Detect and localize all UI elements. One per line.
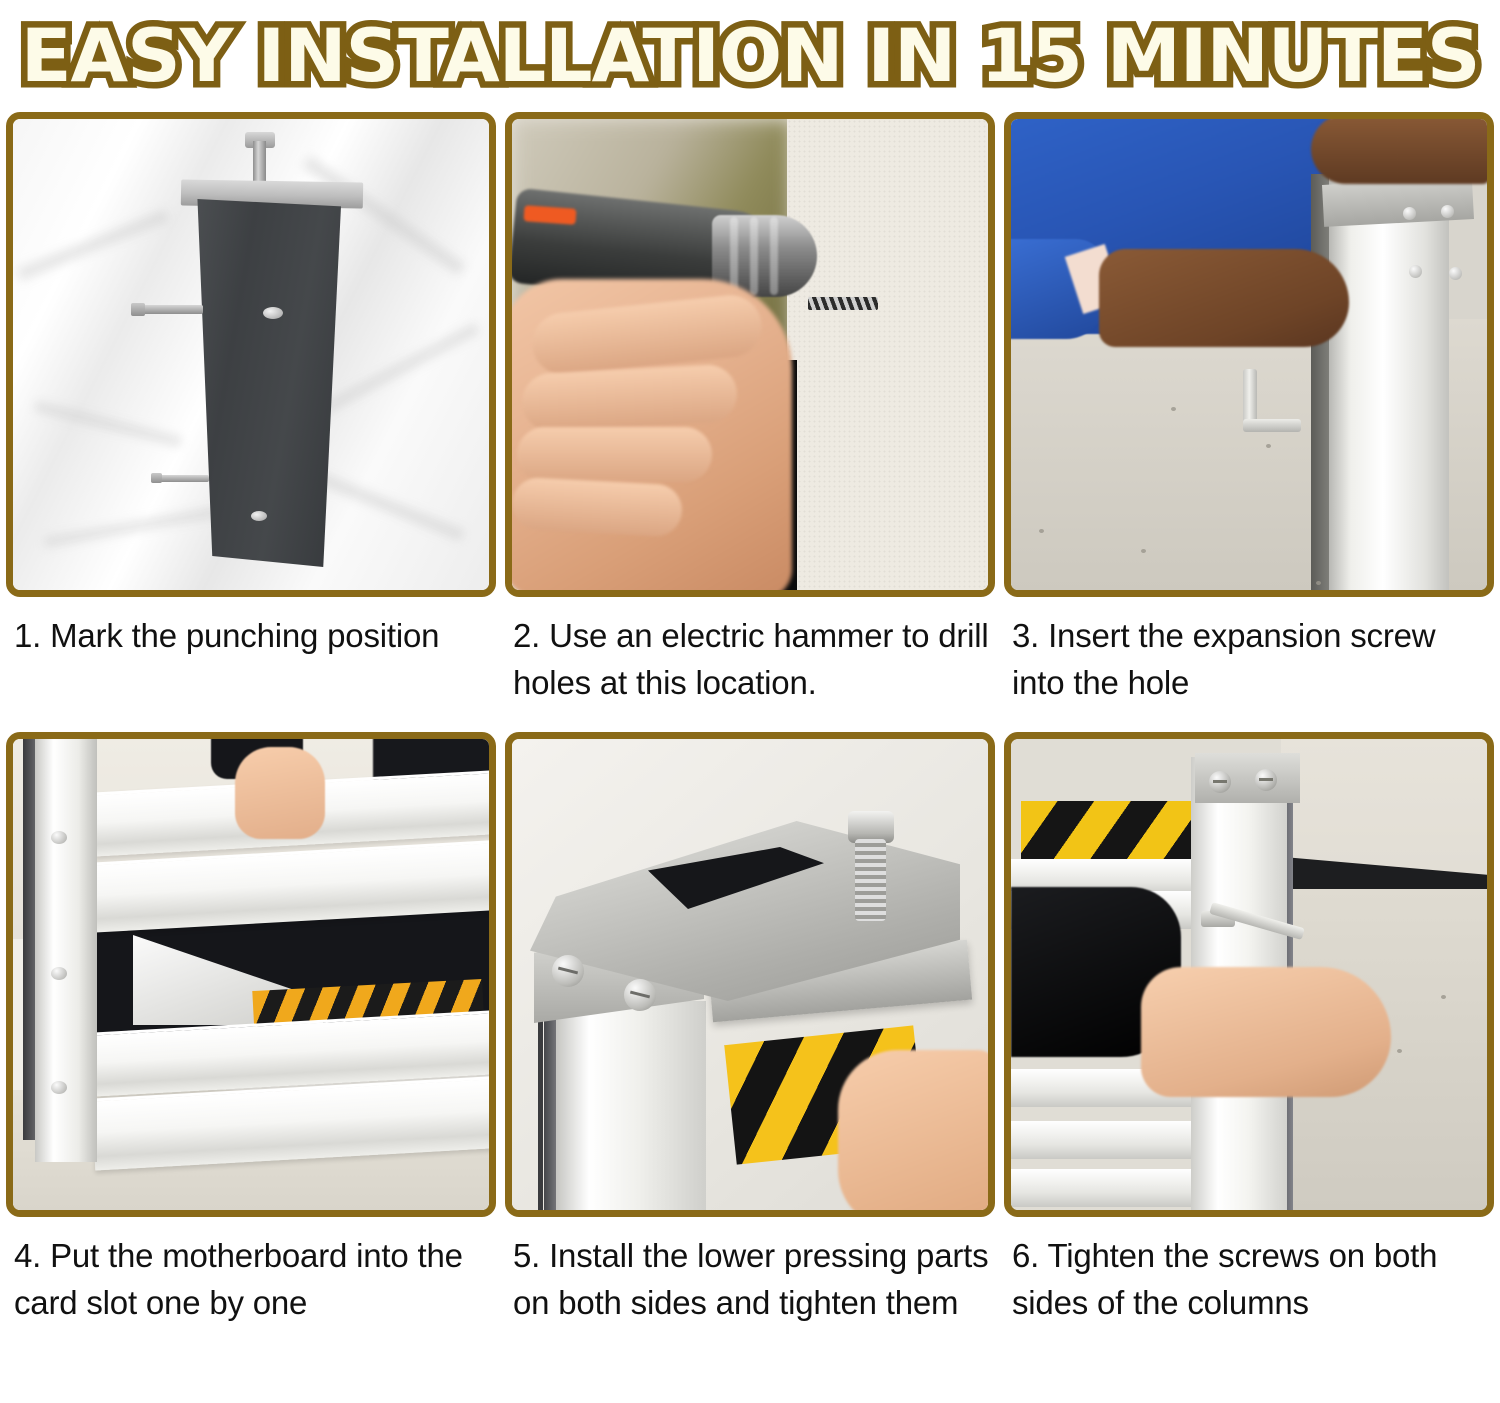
step-4-photo-frame: [6, 732, 496, 1217]
floor-speck: [1141, 549, 1146, 553]
step-card-5: 5. Install the lower pressing parts on b…: [505, 732, 995, 1367]
finger: [512, 477, 683, 538]
card-slot-post: [35, 739, 97, 1162]
expansion-screw: [1403, 207, 1416, 220]
step-6-photo: [1011, 739, 1487, 1210]
worker-upper-hand: [1311, 119, 1487, 184]
step-1-photo-frame: [6, 112, 496, 597]
column-top-plate: [1322, 177, 1474, 227]
floor-speck: [1039, 529, 1044, 533]
drill-hole-mark: [251, 511, 267, 521]
phillips-screw: [624, 979, 656, 1011]
cloth-fold: [34, 401, 182, 447]
step-2-photo-frame: [505, 112, 995, 597]
drill-hole-mark: [263, 307, 283, 319]
post-screw: [51, 967, 67, 980]
floor-speck: [1171, 407, 1176, 411]
header-banner: EASY INSTALLATION IN 15 MINUTES: [0, 0, 1500, 112]
column-screw: [1255, 769, 1277, 791]
expansion-screw: [1449, 267, 1462, 280]
finger: [521, 363, 739, 432]
wall-shadow-line: [538, 1001, 543, 1210]
step-card-4: 4. Put the motherboard into the card slo…: [6, 732, 496, 1367]
post-screw: [51, 1081, 67, 1094]
drill-bit: [808, 297, 878, 310]
floor-speck: [1441, 995, 1446, 999]
phillips-screw: [552, 955, 584, 987]
finger: [517, 427, 712, 482]
step-card-6: 6. Tighten the screws on both sides of t…: [1004, 732, 1494, 1367]
step-3-caption: 3. Insert the expansion screw into the h…: [1004, 597, 1494, 732]
textured-wall: [787, 119, 988, 590]
step-5-photo: [512, 739, 988, 1210]
step-1-caption: 1. Mark the punching position: [6, 597, 496, 732]
worker-arm: [1099, 249, 1349, 347]
hand: [838, 1050, 988, 1210]
floor-speck: [1316, 581, 1321, 585]
page-title: EASY INSTALLATION IN 15 MINUTES: [21, 20, 1480, 93]
steps-row-bottom: 4. Put the motherboard into the card slo…: [6, 732, 1494, 1367]
step-1-photo: [13, 119, 489, 590]
step-5-photo-frame: [505, 732, 995, 1217]
chuck-ring: [770, 217, 778, 295]
step-6-photo-frame: [1004, 732, 1494, 1217]
step-2-photo: [512, 119, 988, 590]
installation-steps-grid: 1. Mark the punching position: [0, 112, 1500, 1367]
step-2-caption: 2. Use an electric hammer to drill holes…: [505, 597, 995, 732]
expansion-screw: [1441, 205, 1454, 218]
alignment-pin-tip: [131, 303, 145, 316]
white-column: [556, 1001, 706, 1210]
step-4-photo: [13, 739, 489, 1210]
floor-speck: [1266, 444, 1271, 448]
chuck-ring: [750, 217, 758, 295]
installed-panel: [1011, 1169, 1207, 1207]
expansion-screw: [1409, 265, 1422, 278]
hazard-stripe: [1021, 801, 1201, 861]
mounting-plate: [193, 199, 341, 567]
step-5-caption: 5. Install the lower pressing parts on b…: [505, 1217, 995, 1367]
step-4-caption: 4. Put the motherboard into the card slo…: [6, 1217, 496, 1367]
bracket-bolt: [848, 811, 894, 927]
installed-panel: [1011, 1121, 1207, 1159]
allen-key-arm: [1243, 419, 1301, 432]
step-3-photo: [1011, 119, 1487, 590]
step-card-1: 1. Mark the punching position: [6, 112, 496, 732]
step-card-2: 2. Use an electric hammer to drill holes…: [505, 112, 995, 732]
bolt-thread: [855, 839, 886, 921]
column-screw: [1209, 771, 1231, 793]
step-card-3: 3. Insert the expansion screw into the h…: [1004, 112, 1494, 732]
step-3-photo-frame: [1004, 112, 1494, 597]
alignment-pin-tip: [151, 473, 162, 483]
cloth-fold: [17, 209, 170, 280]
steps-row-top: 1. Mark the punching position: [6, 112, 1494, 732]
floor-speck: [1397, 1049, 1402, 1053]
step-6-caption: 6. Tighten the screws on both sides of t…: [1004, 1217, 1494, 1367]
post-screw: [51, 831, 67, 844]
hand: [1141, 967, 1391, 1097]
hand: [235, 747, 325, 839]
